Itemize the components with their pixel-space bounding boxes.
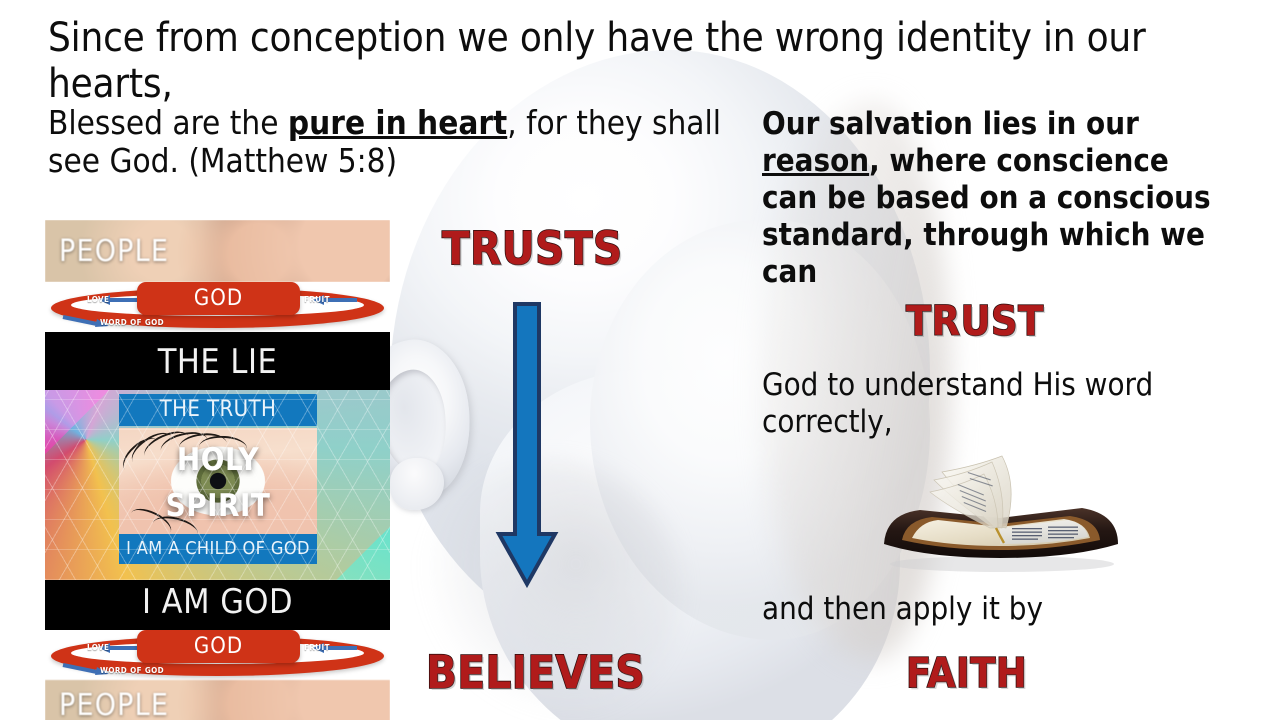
god-label-love-top: LOVE (87, 295, 109, 304)
eye-photograph: HOLY SPIRIT (119, 428, 317, 534)
i-am-god-label: I AM GOD (45, 582, 390, 622)
child-of-god-strip: I AM A CHILD OF GOD (119, 534, 317, 564)
right-paragraph-one: Our salvation lies in our reason, where … (762, 106, 1232, 290)
emphasis-word-faith: FAITH (906, 649, 1027, 697)
god-label-word-top: WORD OF GOD (100, 318, 164, 327)
right-paragraph-two: God to understand His word correctly, (762, 367, 1212, 441)
collage-i-am-god-band: I AM GOD (45, 580, 390, 630)
god-label-fruit-bottom: FRUIT (304, 643, 330, 652)
collage-people-photo-bottom: PEOPLE (45, 680, 390, 720)
eyelash (158, 428, 210, 463)
god-label-love-bottom: LOVE (87, 643, 109, 652)
god-label-word-bottom: WORD OF GOD (100, 666, 164, 675)
overlay-word-holy: HOLY (119, 442, 317, 478)
god-center-box-top: GOD (137, 282, 300, 315)
collage-people-photo-top: PEOPLE (45, 220, 390, 282)
overlay-word-spirit: SPIRIT (119, 488, 317, 524)
god-label-fruit-top: FRUIT (304, 295, 330, 304)
collage-the-lie-band: THE LIE (45, 332, 390, 390)
left-verse-emphasis: pure in heart (288, 103, 507, 142)
collage-god-diagram-bottom: GOD LOVE FRUIT WORD OF GOD (45, 630, 390, 680)
right-p1-emphasis: reason (762, 143, 869, 179)
open-bible-image (872, 448, 1130, 573)
slide-canvas: Since from conception we only have the w… (0, 0, 1280, 720)
people-label-top: PEOPLE (59, 234, 169, 269)
right-paragraph-three: and then apply it by (762, 592, 1212, 627)
eyelash (119, 432, 166, 479)
emphasis-word-trust: TRUST (906, 297, 1044, 345)
left-image-collage: PEOPLE GOD LOVE FRUIT WORD OF GOD (45, 220, 390, 720)
emphasis-word-trusts: TRUSTS (442, 222, 623, 275)
eyelash-lower (126, 503, 175, 534)
left-verse-part-a: Blessed are the (48, 103, 288, 142)
the-truth-strip: THE TRUTH (119, 394, 317, 426)
eyelash-lower (150, 512, 200, 534)
eyelash (126, 428, 178, 472)
the-lie-label: THE LIE (45, 342, 390, 382)
god-center-box-bottom: GOD (137, 630, 300, 663)
right-p1-part-a: Our salvation lies in our (762, 106, 1149, 142)
collage-god-diagram-top: GOD LOVE FRUIT WORD OF GOD (45, 282, 390, 332)
down-arrow-icon (495, 302, 559, 588)
people-label-bottom: PEOPLE (59, 688, 169, 720)
eyelash (140, 428, 194, 467)
slide-headline: Since from conception we only have the w… (48, 16, 1198, 107)
collage-mosaic-eye-panel: HOLY SPIRIT THE TRUTH I AM A CHILD OF GO… (45, 390, 390, 580)
head-ear-lobe (390, 458, 444, 510)
eyelash (178, 431, 228, 460)
emphasis-word-believes: BELIEVES (426, 646, 645, 699)
left-scripture-text: Blessed are the pure in heart, for they … (48, 104, 738, 179)
eyelash (199, 435, 248, 461)
